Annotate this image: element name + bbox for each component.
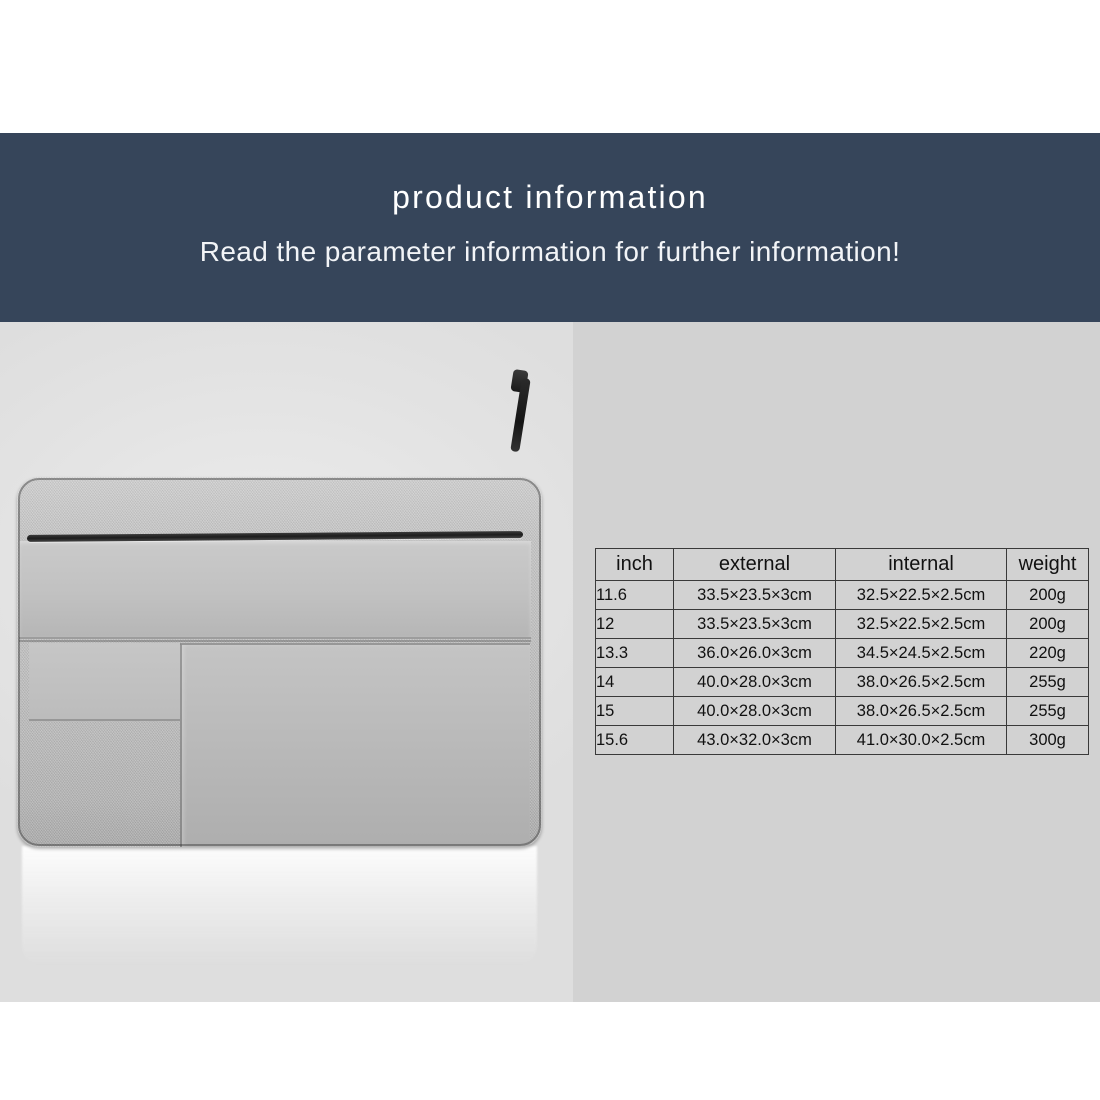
spec-table-wrapper: inch external internal weight 11.6 33.5×…	[595, 548, 1088, 755]
table-row: 14 40.0×28.0×3cm 38.0×26.5×2.5cm 255g	[596, 668, 1089, 697]
column-header-internal: internal	[836, 549, 1007, 581]
cell-internal: 34.5×24.5×2.5cm	[836, 639, 1007, 668]
table-header-row: inch external internal weight	[596, 549, 1089, 581]
cell-external: 36.0×26.0×3cm	[674, 639, 836, 668]
cell-external: 40.0×28.0×3cm	[674, 668, 836, 697]
table-row: 13.3 36.0×26.0×3cm 34.5×24.5×2.5cm 220g	[596, 639, 1089, 668]
cell-inch: 12	[596, 610, 674, 639]
sleeve-top-pocket	[19, 541, 531, 639]
cell-external: 33.5×23.5×3cm	[674, 581, 836, 610]
header-banner: product information Read the parameter i…	[0, 133, 1100, 322]
cell-inch: 15	[596, 697, 674, 726]
product-information-page: product information Read the parameter i…	[0, 0, 1100, 1100]
cell-weight: 300g	[1007, 726, 1089, 755]
content-area: inch external internal weight 11.6 33.5×…	[0, 322, 1100, 1002]
cell-weight: 255g	[1007, 668, 1089, 697]
cell-inch: 13.3	[596, 639, 674, 668]
table-row: 11.6 33.5×23.5×3cm 32.5×22.5×2.5cm 200g	[596, 581, 1089, 610]
cell-internal: 38.0×26.5×2.5cm	[836, 697, 1007, 726]
product-photo-panel	[0, 322, 573, 1002]
cell-internal: 32.5×22.5×2.5cm	[836, 610, 1007, 639]
cell-weight: 200g	[1007, 610, 1089, 639]
laptop-sleeve-image	[17, 477, 542, 847]
cell-inch: 14	[596, 668, 674, 697]
photo-backdrop	[0, 322, 573, 1002]
column-header-weight: weight	[1007, 549, 1089, 581]
sleeve-reflection	[22, 846, 537, 966]
cell-internal: 38.0×26.5×2.5cm	[836, 668, 1007, 697]
cell-inch: 15.6	[596, 726, 674, 755]
table-row: 12 33.5×23.5×3cm 32.5×22.5×2.5cm 200g	[596, 610, 1089, 639]
sleeve-left-pocket	[29, 643, 181, 721]
column-header-external: external	[674, 549, 836, 581]
sleeve-front-pocket	[180, 643, 530, 847]
cell-external: 33.5×23.5×3cm	[674, 610, 836, 639]
cell-weight: 255g	[1007, 697, 1089, 726]
cell-weight: 200g	[1007, 581, 1089, 610]
sleeve-mid-seam	[19, 640, 531, 642]
cell-external: 43.0×32.0×3cm	[674, 726, 836, 755]
cell-internal: 32.5×22.5×2.5cm	[836, 581, 1007, 610]
cell-internal: 41.0×30.0×2.5cm	[836, 726, 1007, 755]
cell-weight: 220g	[1007, 639, 1089, 668]
page-subtitle: Read the parameter information for furth…	[0, 236, 1100, 268]
column-header-inch: inch	[596, 549, 674, 581]
cell-external: 40.0×28.0×3cm	[674, 697, 836, 726]
cell-inch: 11.6	[596, 581, 674, 610]
spec-table: inch external internal weight 11.6 33.5×…	[595, 548, 1089, 755]
table-row: 15 40.0×28.0×3cm 38.0×26.5×2.5cm 255g	[596, 697, 1089, 726]
spec-table-panel: inch external internal weight 11.6 33.5×…	[573, 322, 1100, 1002]
table-row: 15.6 43.0×32.0×3cm 41.0×30.0×2.5cm 300g	[596, 726, 1089, 755]
page-title: product information	[0, 179, 1100, 216]
